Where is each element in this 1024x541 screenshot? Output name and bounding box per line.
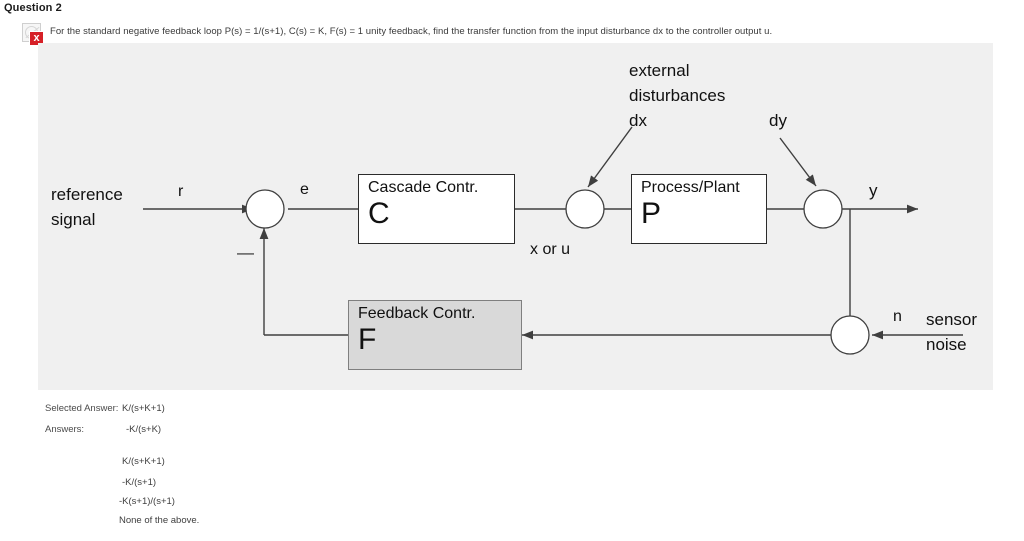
- answer-option-4: None of the above.: [119, 515, 199, 526]
- minus-sign-label: —: [237, 243, 254, 263]
- answer-option-1: K/(s+K+1): [122, 456, 165, 467]
- summing-junction-noise: [831, 316, 869, 354]
- signal-r-label: r: [178, 183, 183, 201]
- process-plant-title: Process/Plant: [641, 179, 740, 197]
- external-disturbances-line1: external: [629, 61, 689, 81]
- sensor-noise-line2: noise: [926, 335, 967, 355]
- output-y-label: y: [869, 181, 878, 201]
- summing-junction-error: [246, 190, 284, 228]
- process-plant-symbol: P: [641, 197, 661, 231]
- question-page: Question 2 x For the standard negative f…: [0, 0, 1024, 541]
- signal-e-label: e: [300, 181, 309, 199]
- cascade-controller-symbol: C: [368, 197, 390, 231]
- reference-signal-label-line1: reference: [51, 185, 123, 205]
- answer-option-0: -K/(s+K): [126, 424, 161, 435]
- page-title: Question 2: [4, 2, 62, 14]
- block-diagram: reference signal r e — Cascade Contr. C …: [38, 43, 993, 390]
- external-disturbances-dx: dx: [629, 111, 647, 131]
- answer-option-2: -K/(s+1): [122, 477, 156, 488]
- dy-label: dy: [769, 111, 787, 131]
- selected-answer-value: K/(s+K+1): [122, 403, 165, 414]
- noise-n-label: n: [893, 308, 902, 326]
- cascade-controller-title: Cascade Contr.: [368, 179, 478, 197]
- feedback-controller-symbol: F: [358, 323, 376, 357]
- cascade-controller-block: Cascade Contr. C: [358, 174, 515, 244]
- feedback-controller-block: Feedback Contr. F: [348, 300, 522, 370]
- x-or-u-label: x or u: [530, 241, 570, 259]
- summing-junction-dy: [804, 190, 842, 228]
- question-text: For the standard negative feedback loop …: [50, 26, 772, 37]
- process-plant-block: Process/Plant P: [631, 174, 767, 244]
- answer-option-3: -K(s+1)/(s+1): [119, 496, 175, 507]
- sensor-noise-line1: sensor: [926, 310, 977, 330]
- reference-signal-label-line2: signal: [51, 210, 95, 230]
- external-disturbances-line2: disturbances: [629, 86, 725, 106]
- feedback-controller-title: Feedback Contr.: [358, 305, 475, 323]
- summing-junction-dx: [566, 190, 604, 228]
- selected-answer-label: Selected Answer:: [45, 403, 118, 414]
- answers-label: Answers:: [45, 424, 84, 435]
